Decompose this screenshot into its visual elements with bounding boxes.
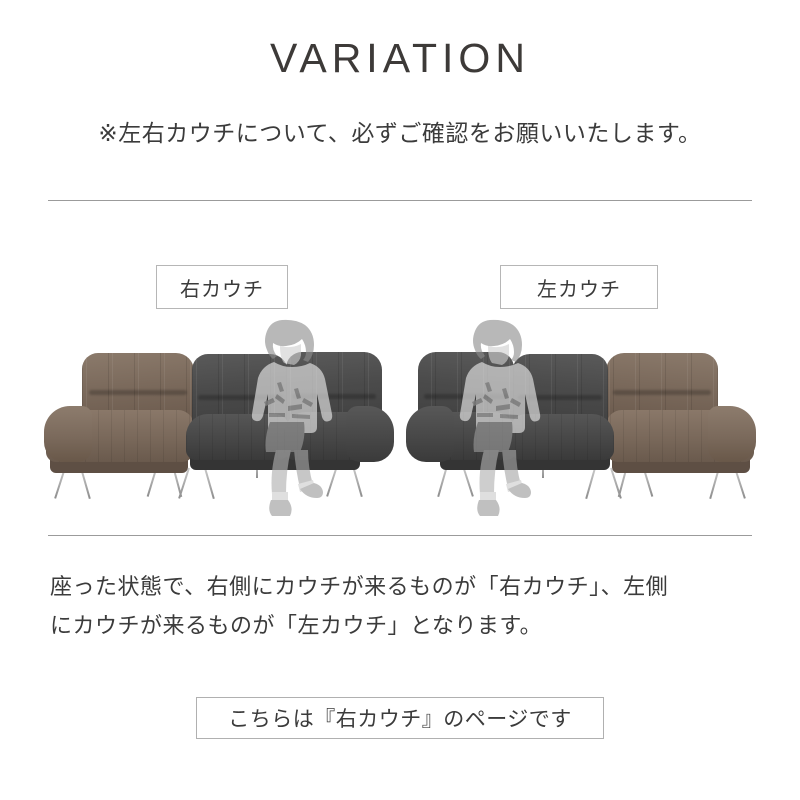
variation-label-text: 右カウチ [180, 273, 264, 302]
sofa-leg [352, 466, 363, 497]
variation-page: VARIATION ※左右カウチについて、必ずご確認をお願いいたします。 右カウ… [0, 0, 800, 800]
variation-label-text: 左カウチ [537, 273, 621, 302]
person-shoe-rear [298, 480, 315, 492]
sofa-stage [40, 318, 400, 523]
current-page-notice: こちらは『右カウチ』のページです [196, 697, 604, 739]
sofa-seat-cushion-1 [186, 414, 290, 460]
person-foot-rear [300, 483, 323, 498]
couch-arm-roll [708, 406, 756, 462]
sofa-arm-roll [346, 406, 394, 462]
variation-label-left-couch: 左カウチ [500, 265, 658, 309]
variation-label-right-couch: 右カウチ [156, 265, 288, 309]
divider-bottom [48, 535, 752, 536]
person-foot-front [269, 500, 291, 516]
sofa-arm-roll [406, 406, 454, 462]
person-foot-front [477, 500, 499, 516]
sofa-leg [462, 466, 474, 497]
sofa-illustration-right-couch [40, 318, 400, 523]
couch-arm-roll [44, 406, 92, 462]
sofa-leg [326, 466, 338, 497]
sofa-illustration-left-couch [400, 318, 760, 523]
description-text: 座った状態で、右側にカウチが来るものが「右カウチ」、左側 にカウチが来るものが「… [50, 568, 756, 645]
sofa-leg [585, 468, 596, 499]
page-subtitle: ※左右カウチについて、必ずご確認をお願いいたします。 [0, 117, 800, 149]
person-shoe-front [480, 492, 496, 501]
description-line-2: にカウチが来るものが「左カウチ」となります。 [50, 607, 756, 646]
sofa-stage [400, 318, 760, 523]
divider-top [48, 200, 752, 201]
person-shoe-front [272, 492, 288, 501]
current-page-notice-text: こちらは『右カウチ』のページです [228, 703, 572, 733]
sofa-leg [204, 468, 215, 499]
page-title: VARIATION [0, 36, 800, 81]
person-shoe-rear [506, 480, 523, 492]
sofa-seat-cushion-1 [510, 414, 614, 460]
person-foot-rear [508, 483, 531, 498]
description-line-1: 座った状態で、右側にカウチが来るものが「右カウチ」、左側 [50, 568, 756, 607]
sofa-leg [437, 466, 448, 497]
